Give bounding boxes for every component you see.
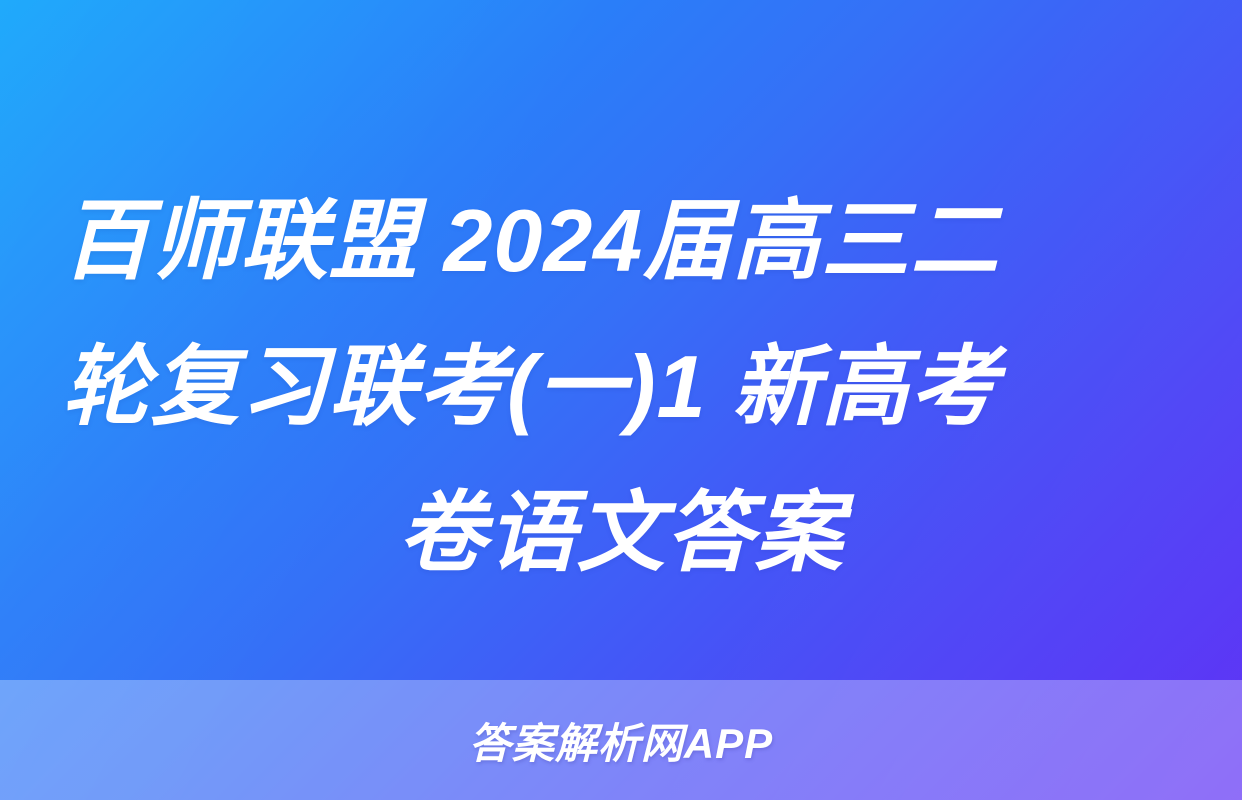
- title-line-3: 卷语文答案: [62, 460, 1180, 606]
- title-line-1: 百师联盟 2024届高三二: [62, 168, 1180, 314]
- poster-title: 百师联盟 2024届高三二 轮复习联考(一)1 新高考 卷语文答案: [0, 168, 1242, 606]
- watermark-band: 答案解析网APP: [0, 680, 1242, 800]
- title-line-2: 轮复习联考(一)1 新高考: [62, 314, 1180, 460]
- poster-canvas: 百师联盟 2024届高三二 轮复习联考(一)1 新高考 卷语文答案 答案解析网A…: [0, 0, 1242, 800]
- watermark-label: 答案解析网APP: [469, 710, 773, 771]
